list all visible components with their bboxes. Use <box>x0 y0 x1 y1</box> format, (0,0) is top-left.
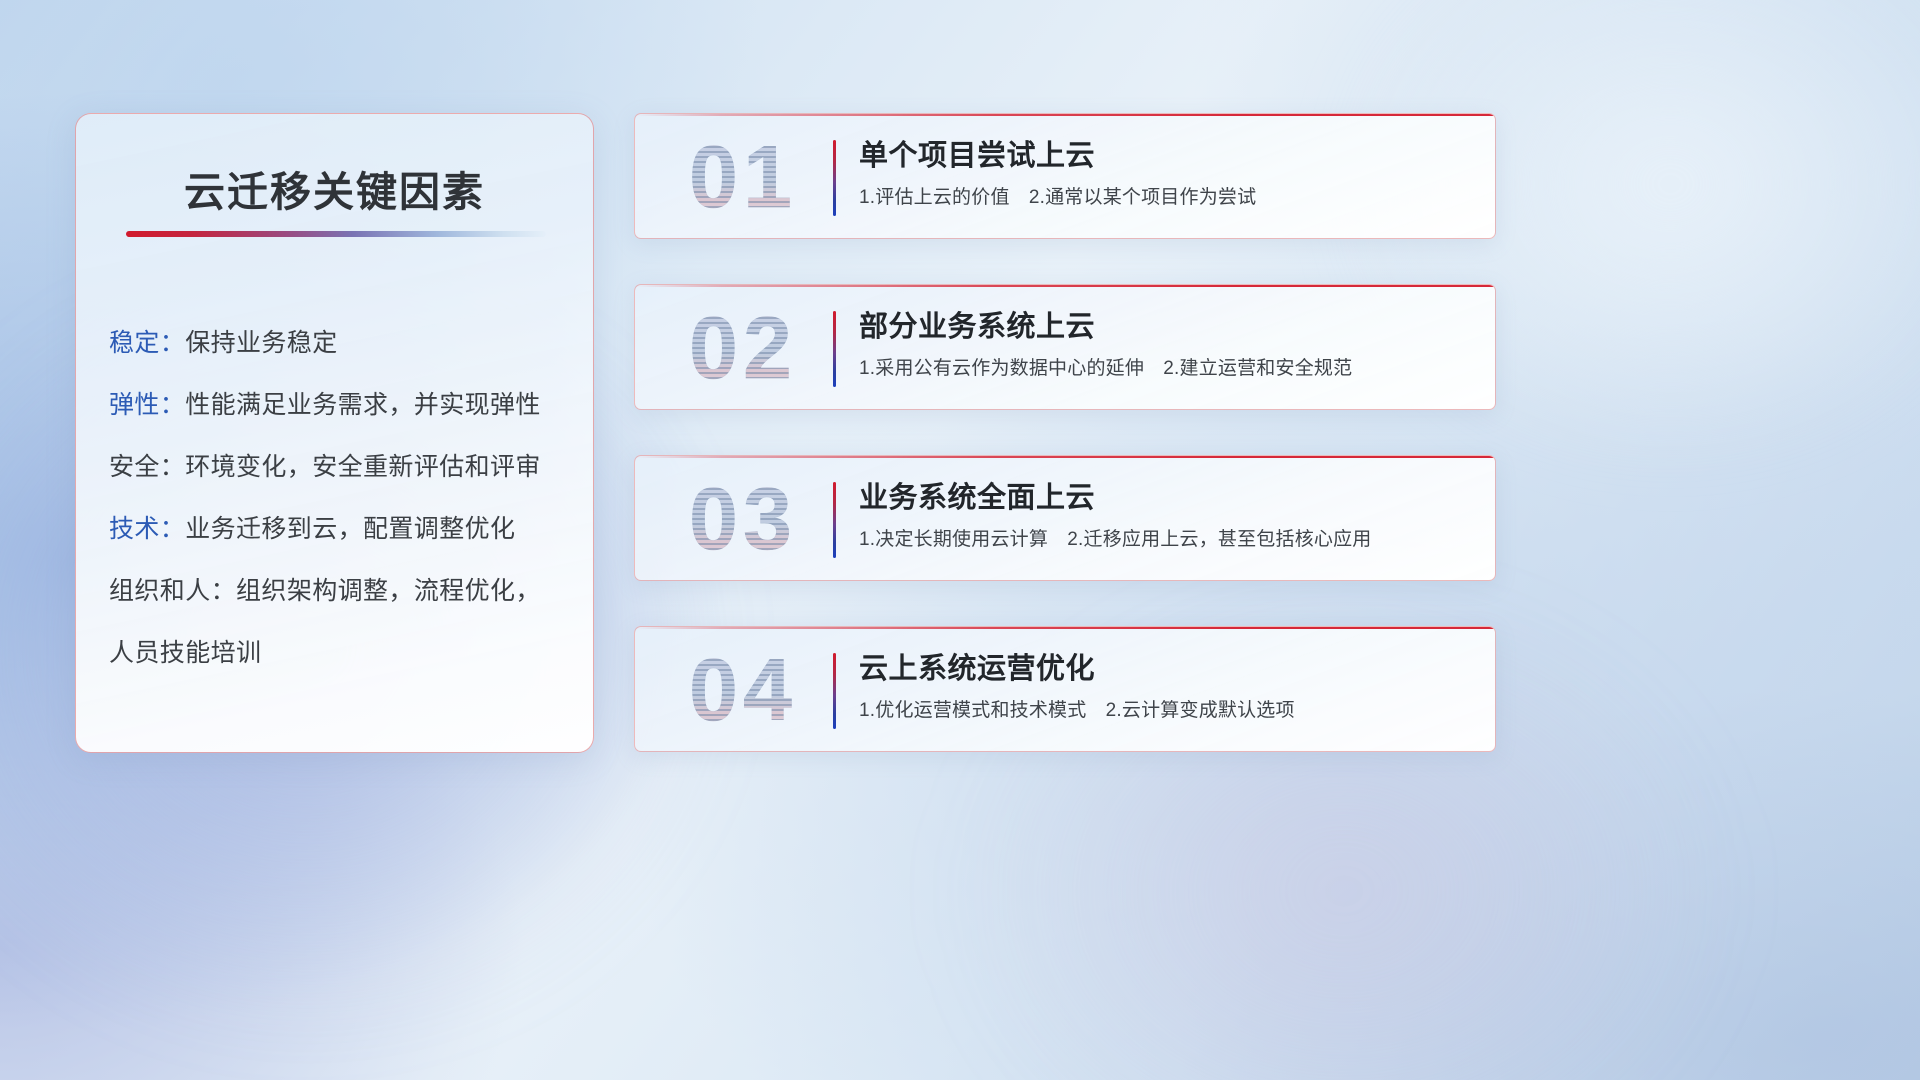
key-factors-list: 稳定：保持业务稳定弹性：性能满足业务需求，并实现弹性安全：环境变化，安全重新评估… <box>109 312 575 684</box>
stage-divider-accent <box>833 653 836 729</box>
key-factor-item: 组织和人：组织架构调整，流程优化， <box>109 560 575 622</box>
stage-divider-accent <box>833 311 836 387</box>
stage-subtitle: 1.优化运营模式和技术模式 2.云计算变成默认选项 <box>859 697 1479 725</box>
key-factor-item: 人员技能培训 <box>109 622 575 684</box>
stage-card[interactable]: 04云上系统运营优化1.优化运营模式和技术模式 2.云计算变成默认选项 <box>634 626 1496 752</box>
stage-subtitle: 1.评估上云的价值 2.通常以某个项目作为尝试 <box>859 184 1479 212</box>
stage-title: 云上系统运营优化 <box>859 649 1479 689</box>
key-factor-item: 弹性：性能满足业务需求，并实现弹性 <box>109 374 575 436</box>
stage-number: 04 <box>658 639 828 741</box>
cloud-stages-list: 01单个项目尝试上云1.评估上云的价值 2.通常以某个项目作为尝试02部分业务系… <box>634 113 1496 752</box>
key-factor-item: 技术：业务迁移到云，配置调整优化 <box>109 498 575 560</box>
stage-body: 业务系统全面上云1.决定长期使用云计算 2.迁移应用上云，甚至包括核心应用 <box>859 478 1479 554</box>
key-factor-label: 技术： <box>109 515 185 543</box>
key-factor-label: 组织和人： <box>109 577 236 605</box>
key-factor-item: 稳定：保持业务稳定 <box>109 312 575 374</box>
key-factor-item: 安全：环境变化，安全重新评估和评审 <box>109 436 575 498</box>
stage-number: 03 <box>658 468 828 570</box>
stage-subtitle: 1.决定长期使用云计算 2.迁移应用上云，甚至包括核心应用 <box>859 526 1479 554</box>
stage-body: 部分业务系统上云1.采用公有云作为数据中心的延伸 2.建立运营和安全规范 <box>859 307 1479 383</box>
key-factor-label: 安全： <box>109 453 185 481</box>
title-underline-accent <box>126 231 546 237</box>
stage-divider-accent <box>833 482 836 558</box>
key-factor-text: 保持业务稳定 <box>185 329 337 357</box>
stage-card[interactable]: 03业务系统全面上云1.决定长期使用云计算 2.迁移应用上云，甚至包括核心应用 <box>634 455 1496 581</box>
stage-divider-accent <box>833 140 836 216</box>
stage-body: 云上系统运营优化1.优化运营模式和技术模式 2.云计算变成默认选项 <box>859 649 1479 725</box>
key-factor-text: 业务迁移到云，配置调整优化 <box>185 515 515 543</box>
stage-card[interactable]: 02部分业务系统上云1.采用公有云作为数据中心的延伸 2.建立运营和安全规范 <box>634 284 1496 410</box>
stage-card[interactable]: 01单个项目尝试上云1.评估上云的价值 2.通常以某个项目作为尝试 <box>634 113 1496 239</box>
key-factor-label: 弹性： <box>109 391 185 419</box>
stage-title: 部分业务系统上云 <box>859 307 1479 347</box>
stage-body: 单个项目尝试上云1.评估上云的价值 2.通常以某个项目作为尝试 <box>859 136 1479 212</box>
key-factors-panel: 云迁移关键因素 稳定：保持业务稳定弹性：性能满足业务需求，并实现弹性安全：环境变… <box>75 113 594 753</box>
page-title: 云迁移关键因素 <box>76 158 593 218</box>
stage-subtitle: 1.采用公有云作为数据中心的延伸 2.建立运营和安全规范 <box>859 355 1479 383</box>
key-factor-text: 性能满足业务需求，并实现弹性 <box>185 391 541 419</box>
stage-number: 01 <box>658 126 828 228</box>
stage-number: 02 <box>658 297 828 399</box>
key-factor-text: 组织架构调整，流程优化， <box>236 577 541 605</box>
slide-stage: 云迁移关键因素 稳定：保持业务稳定弹性：性能满足业务需求，并实现弹性安全：环境变… <box>0 0 1920 1080</box>
key-factor-text: 环境变化，安全重新评估和评审 <box>185 453 541 481</box>
stage-title: 单个项目尝试上云 <box>859 136 1479 176</box>
key-factor-label: 稳定： <box>109 329 185 357</box>
stage-title: 业务系统全面上云 <box>859 478 1479 518</box>
key-factor-text: 人员技能培训 <box>109 639 261 667</box>
